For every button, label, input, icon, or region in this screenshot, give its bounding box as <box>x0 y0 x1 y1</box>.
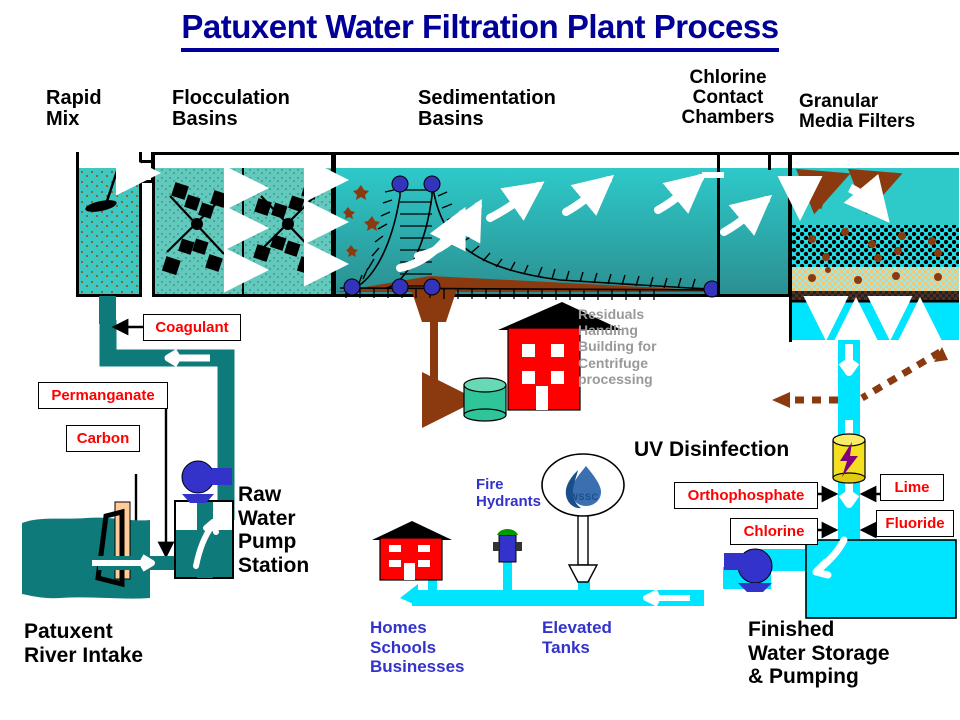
label-chlorine[interactable]: Chlorine <box>730 518 818 545</box>
label-lime-text: Lime <box>894 480 929 495</box>
caption-fw-l2: Water Storage <box>748 642 960 666</box>
customer-building <box>372 521 452 580</box>
caption-intake-l1: Patuxent <box>24 620 224 644</box>
label-orthophosphate-text: Orthophosphate <box>688 488 805 503</box>
uv-reactor <box>833 434 865 483</box>
caption-intake-l2: River Intake <box>24 644 224 668</box>
caption-fw-l3: & Pumping <box>748 665 960 689</box>
caption-raw-water-pump-station: Raw Water Pump Station <box>238 483 358 577</box>
backwash-waste-arrows <box>788 352 940 400</box>
caption-rwps-l2: Water <box>238 507 358 531</box>
caption-rwps-l1: Raw <box>238 483 358 507</box>
caption-tanks-l2: Tanks <box>542 638 652 658</box>
caption-hydrants-l1: Fire <box>476 476 556 493</box>
caption-tanks-l1: Elevated <box>542 618 652 638</box>
caption-rwps-l3: Pump <box>238 530 358 554</box>
label-lime[interactable]: Lime <box>880 474 944 501</box>
label-fluoride-text: Fluoride <box>885 516 944 531</box>
caption-hydrants-l2: Hydrants <box>476 493 556 510</box>
caption-uv-disinfection: UV Disinfection <box>634 438 789 462</box>
label-chlorine-text: Chlorine <box>744 524 805 539</box>
finished-water-storage-tank <box>806 540 956 618</box>
caption-customers-l2: Schools <box>370 638 500 658</box>
caption-finished-water: Finished Water Storage & Pumping <box>748 618 960 689</box>
diagram-canvas: Patuxent Water Filtration Plant Process … <box>0 0 960 720</box>
label-fluoride[interactable]: Fluoride <box>876 510 954 537</box>
fire-hydrant-icon <box>493 529 522 562</box>
caption-customers-l3: Businesses <box>370 657 500 677</box>
finished-water-graphic <box>0 0 960 720</box>
caption-fw-l1: Finished <box>748 618 960 642</box>
caption-customers: Homes Schools Businesses <box>370 618 500 677</box>
label-orthophosphate[interactable]: Orthophosphate <box>674 482 818 509</box>
caption-customers-l1: Homes <box>370 618 500 638</box>
elevated-tank-icon <box>542 454 624 582</box>
caption-patuxent-river-intake: Patuxent River Intake <box>24 620 224 667</box>
caption-rwps-l4: Station <box>238 554 358 578</box>
caption-elevated-tanks: Elevated Tanks <box>542 618 652 657</box>
caption-fire-hydrants: Fire Hydrants <box>476 476 556 511</box>
wssc-logo-text: WSSC <box>566 492 602 502</box>
